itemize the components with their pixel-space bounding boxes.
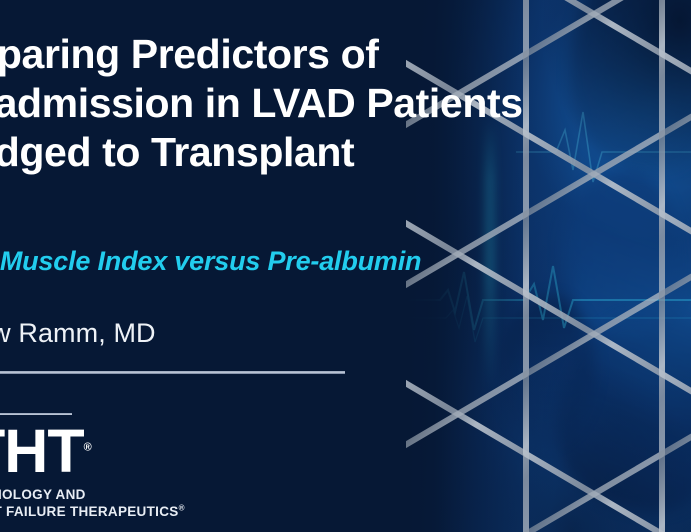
slide-title: Comparing Predictors of Readmission in L… (0, 30, 660, 178)
slide-subtitle: Psoas Muscle Index versus Pre-albumin (0, 246, 421, 277)
logo-tagline-registered-mark: ® (179, 504, 185, 513)
logo-registered-mark: ® (84, 442, 91, 454)
logo-tagline: TECHNOLOGY AND HEART FAILURE THERAPEUTIC… (0, 486, 185, 521)
divider-rule (0, 371, 345, 374)
logo-tagline-line-2-wrap: HEART FAILURE THERAPEUTICS® (0, 503, 185, 520)
title-line-2: Readmission in LVAD Patients (0, 79, 660, 128)
title-line-1: Comparing Predictors of (0, 30, 660, 79)
logo-tagline-line-2: HEART FAILURE THERAPEUTICS (0, 504, 179, 519)
logo-tagline-line-1: TECHNOLOGY AND (0, 486, 185, 503)
title-line-3: Bridged to Transplant (0, 128, 660, 177)
logo-top-rule (0, 413, 72, 415)
title-slide: Comparing Predictors of Readmission in L… (0, 0, 691, 532)
presenter-name: Matthew Ramm, MD (0, 318, 156, 349)
logo-wordmark: THT® (0, 421, 91, 482)
tht-logo: THT® TECHNOLOGY AND HEART FAILURE THERAP… (0, 413, 230, 523)
logo-wordmark-text: THT (0, 417, 84, 485)
